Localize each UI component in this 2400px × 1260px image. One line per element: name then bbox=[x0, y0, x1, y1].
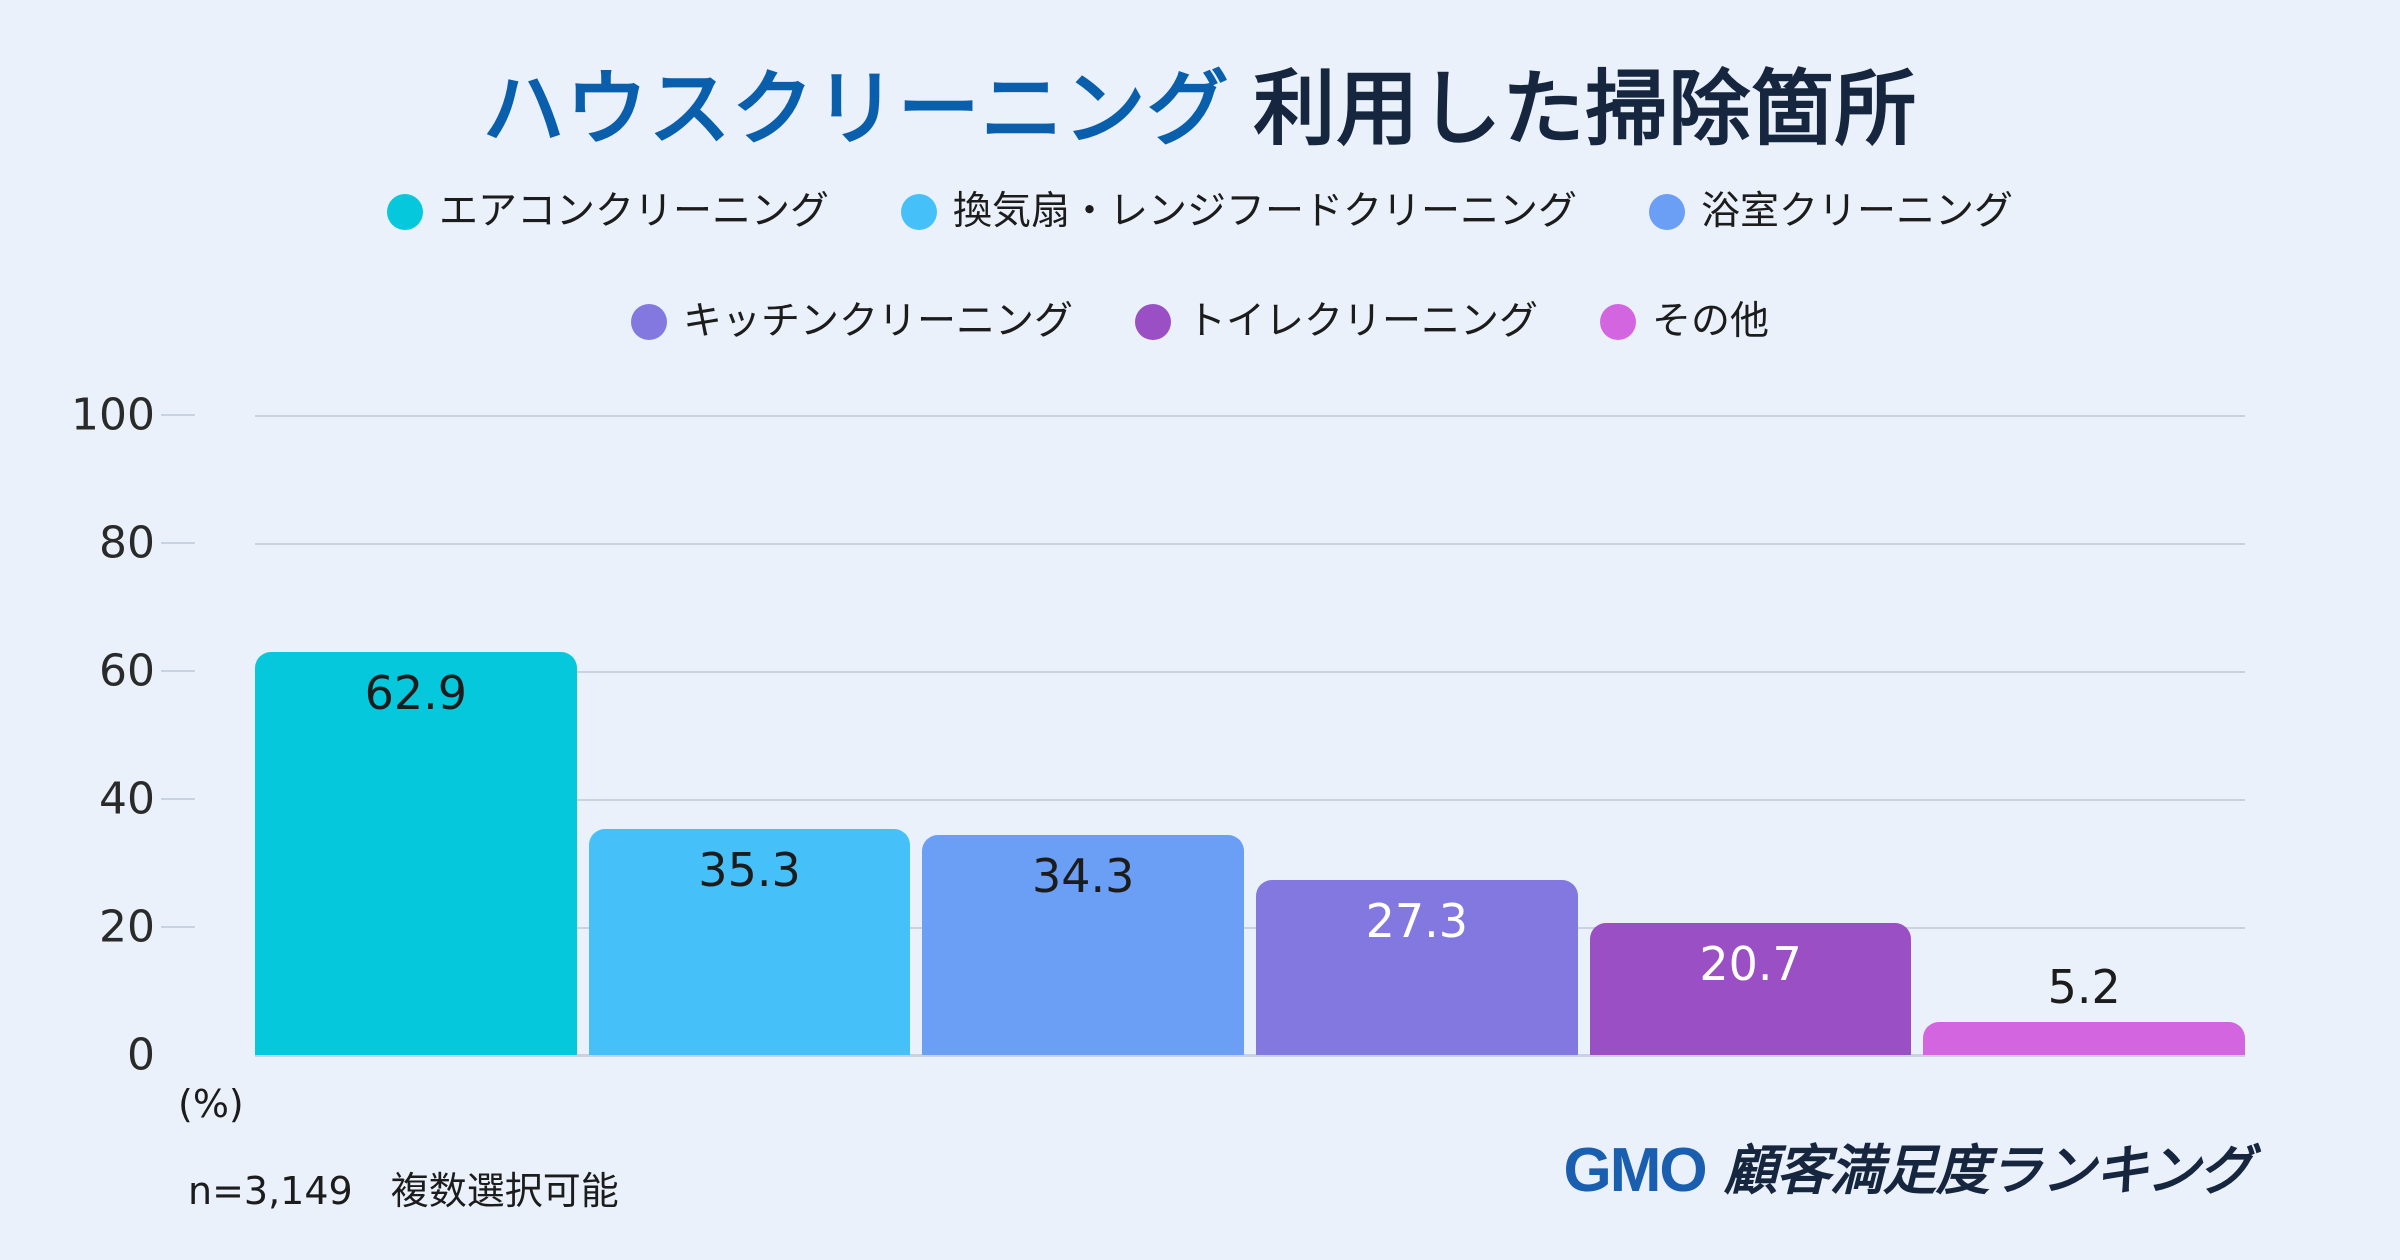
bar-column: 20.7 bbox=[1590, 415, 1912, 1055]
page-title: ハウスクリーニング 利用した掃除箇所 bbox=[0, 42, 2400, 161]
y-axis-tick-mark bbox=[161, 414, 195, 416]
legend-row-1: エアコンクリーニング 換気扇・レンジフードクリーニング 浴室クリーニング bbox=[0, 192, 2400, 231]
bar-value-label: 20.7 bbox=[1590, 937, 1912, 991]
legend-label: 換気扇・レンジフードクリーニング bbox=[953, 192, 1577, 231]
legend-label: 浴室クリーニング bbox=[1701, 192, 2013, 231]
bar[interactable]: 27.3 bbox=[1256, 880, 1578, 1055]
y-axis-tick-label: 20 bbox=[99, 902, 155, 953]
unit-label: (%) bbox=[178, 1082, 244, 1126]
legend-item-5[interactable]: その他 bbox=[1600, 302, 1769, 341]
legend-label: キッチンクリーニング bbox=[683, 302, 1073, 341]
plot-area: 62.935.334.327.320.75.2 bbox=[255, 415, 2245, 1055]
legend-item-4[interactable]: トイレクリーニング bbox=[1135, 302, 1538, 341]
bar-value-label: 62.9 bbox=[255, 666, 577, 720]
title-highlight: ハウスクリーニング bbox=[483, 64, 1230, 155]
bar-column: 35.3 bbox=[589, 415, 911, 1055]
legend-label: エアコンクリーニング bbox=[439, 192, 829, 231]
bar[interactable]: 20.7 bbox=[1590, 923, 1912, 1055]
legend-item-1[interactable]: 換気扇・レンジフードクリーニング bbox=[901, 192, 1577, 231]
y-axis: 020406080100 bbox=[0, 415, 235, 1055]
y-axis-tick-mark bbox=[161, 926, 195, 928]
sample-note: n=3,149 複数選択可能 bbox=[188, 1160, 619, 1215]
bar-value-label: 34.3 bbox=[922, 849, 1244, 903]
y-axis-tick-mark bbox=[161, 798, 195, 800]
bar-value-label: 5.2 bbox=[1923, 960, 2245, 1014]
legend-item-0[interactable]: エアコンクリーニング bbox=[387, 192, 829, 231]
legend-item-3[interactable]: キッチンクリーニング bbox=[631, 302, 1073, 341]
brand-gmo-text: GMO bbox=[1564, 1140, 1706, 1202]
legend-dot-icon bbox=[387, 194, 423, 230]
bar[interactable]: 62.9 bbox=[255, 652, 577, 1055]
y-axis-tick-label: 40 bbox=[99, 774, 155, 825]
legend-dot-icon bbox=[1649, 194, 1685, 230]
legend-row-2: キッチンクリーニング トイレクリーニング その他 bbox=[0, 302, 2400, 341]
legend-dot-icon bbox=[1135, 304, 1171, 340]
chart-canvas: ハウスクリーニング 利用した掃除箇所 エアコンクリーニング 換気扇・レンジフード… bbox=[0, 0, 2400, 1260]
legend-label: その他 bbox=[1652, 302, 1769, 341]
bar-column: 62.9 bbox=[255, 415, 577, 1055]
y-axis-tick-label: 0 bbox=[127, 1030, 155, 1081]
brand-jp-text: 顧客満足度ランキング bbox=[1724, 1144, 2252, 1198]
legend-dot-icon bbox=[901, 194, 937, 230]
bar-column: 5.2 bbox=[1923, 415, 2245, 1055]
y-axis-tick-label: 80 bbox=[99, 518, 155, 569]
bar[interactable]: 5.2 bbox=[1923, 1022, 2245, 1055]
bar-column: 34.3 bbox=[922, 415, 1244, 1055]
bar-column: 27.3 bbox=[1256, 415, 1578, 1055]
brand-logo: GMO 顧客満足度ランキング bbox=[1564, 1140, 2253, 1202]
legend-item-2[interactable]: 浴室クリーニング bbox=[1649, 192, 2013, 231]
bar[interactable]: 35.3 bbox=[589, 829, 911, 1055]
bar[interactable]: 34.3 bbox=[922, 835, 1244, 1055]
y-axis-tick-mark bbox=[161, 542, 195, 544]
y-axis-tick-label: 60 bbox=[99, 646, 155, 697]
legend-dot-icon bbox=[631, 304, 667, 340]
bar-value-label: 35.3 bbox=[589, 843, 911, 897]
legend-label: トイレクリーニング bbox=[1187, 302, 1538, 341]
bar-value-label: 27.3 bbox=[1256, 894, 1578, 948]
bar-series: 62.935.334.327.320.75.2 bbox=[255, 415, 2245, 1055]
title-main: 利用した掃除箇所 bbox=[1253, 64, 1917, 155]
y-axis-tick-label: 100 bbox=[71, 390, 155, 441]
legend-dot-icon bbox=[1600, 304, 1636, 340]
y-axis-tick-mark bbox=[161, 670, 195, 672]
